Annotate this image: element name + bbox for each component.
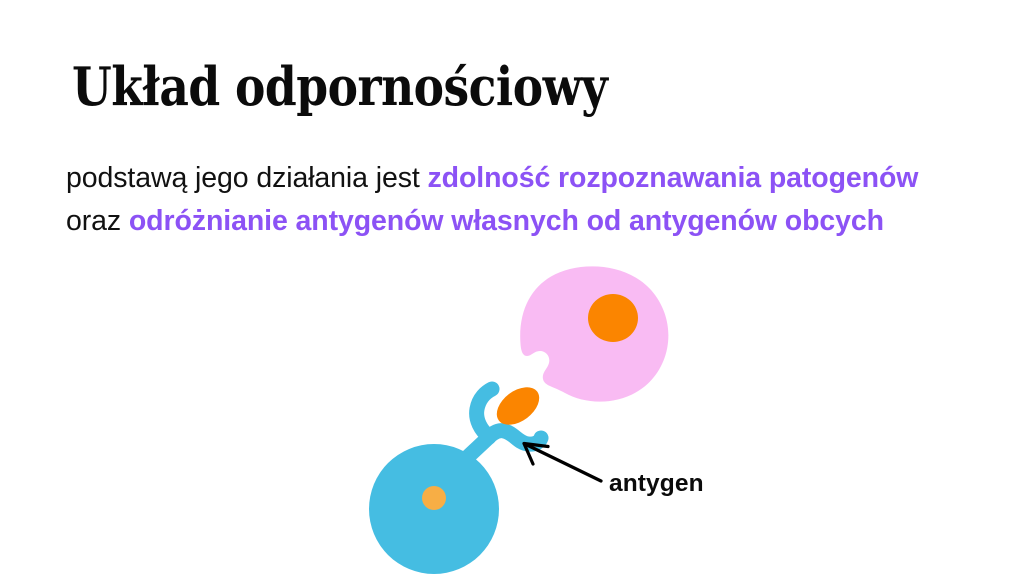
immune-cell-nucleus <box>422 486 446 510</box>
immune-cell-body <box>369 444 499 574</box>
annotation-arrow-head <box>524 444 548 465</box>
body-text-segment-2: oraz <box>66 205 129 237</box>
antigen-annotation-label: antygen <box>609 470 704 498</box>
slide-canvas: Układ odpornościowy podstawą jego działa… <box>0 0 1030 579</box>
body-paragraph: podstawą jego działania jest zdolność ro… <box>66 157 976 243</box>
immune-cell-stalk <box>443 437 489 480</box>
body-text-segment-0: podstawą jego działania jest <box>66 162 428 194</box>
antigen-particle <box>490 380 546 433</box>
immune-cell-receptor <box>489 431 541 444</box>
pathogen-cell-body <box>520 266 668 401</box>
annotation-arrow-line <box>527 445 601 481</box>
body-text-segment-3: odróżnianie antygenów własnych od antyge… <box>129 205 884 237</box>
page-title: Układ odpornościowy <box>72 56 607 118</box>
pathogen-cell-nucleus <box>588 294 638 342</box>
immune-cell-receptor-arm <box>477 389 492 437</box>
body-text-segment-1: zdolność rozpoznawania patogenów <box>428 162 919 194</box>
